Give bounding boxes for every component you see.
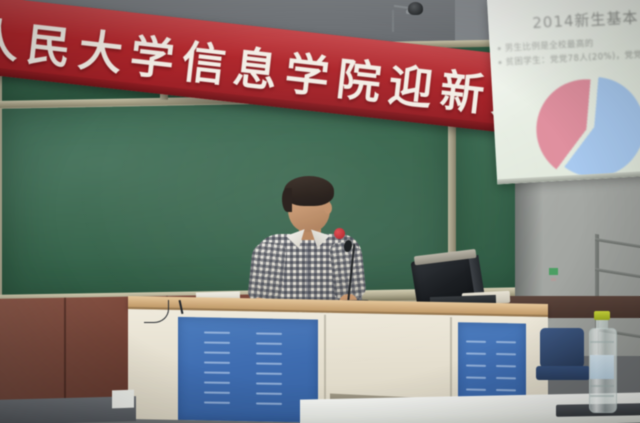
rack-bar <box>595 268 640 279</box>
bottle-neck <box>596 320 608 329</box>
wall-exit-sign <box>549 268 558 275</box>
water-bottle <box>585 311 619 411</box>
slide-bullet-text: 贫困学生：党党78人(20%)，党党 <box>505 50 640 68</box>
ceiling-sensor-wire <box>392 10 394 32</box>
desk-blue-panel <box>178 317 318 423</box>
ceiling-camera-icon <box>408 2 423 15</box>
speaker-hair-side <box>282 188 292 212</box>
bottle-label <box>590 355 614 379</box>
bullet-dot-icon <box>498 61 501 64</box>
projection-screen: 2014新生基本 男生比例是全校最高的 贫困学生：党党78人(20%)，党党 <box>487 0 640 184</box>
chalkboard-panel <box>2 101 450 299</box>
wainscot-seam <box>64 298 66 410</box>
speaker-left-sleeve <box>247 240 287 305</box>
foreground-left-paper <box>112 390 134 409</box>
speaker-badge <box>334 228 345 239</box>
lecture-hall-photo: 人民大学信息学院迎新大会 2014新生基本 男生比例是全校最高的 贫困学生：党党… <box>0 0 640 423</box>
bullet-dot-icon <box>498 47 501 50</box>
chair-backrest <box>540 328 584 368</box>
slide-title: 2014新生基本 <box>532 6 639 33</box>
slide-pie-chart <box>534 74 640 184</box>
rack-bar <box>595 238 640 249</box>
bottle-cap <box>594 311 610 320</box>
chair-seat <box>536 366 590 380</box>
